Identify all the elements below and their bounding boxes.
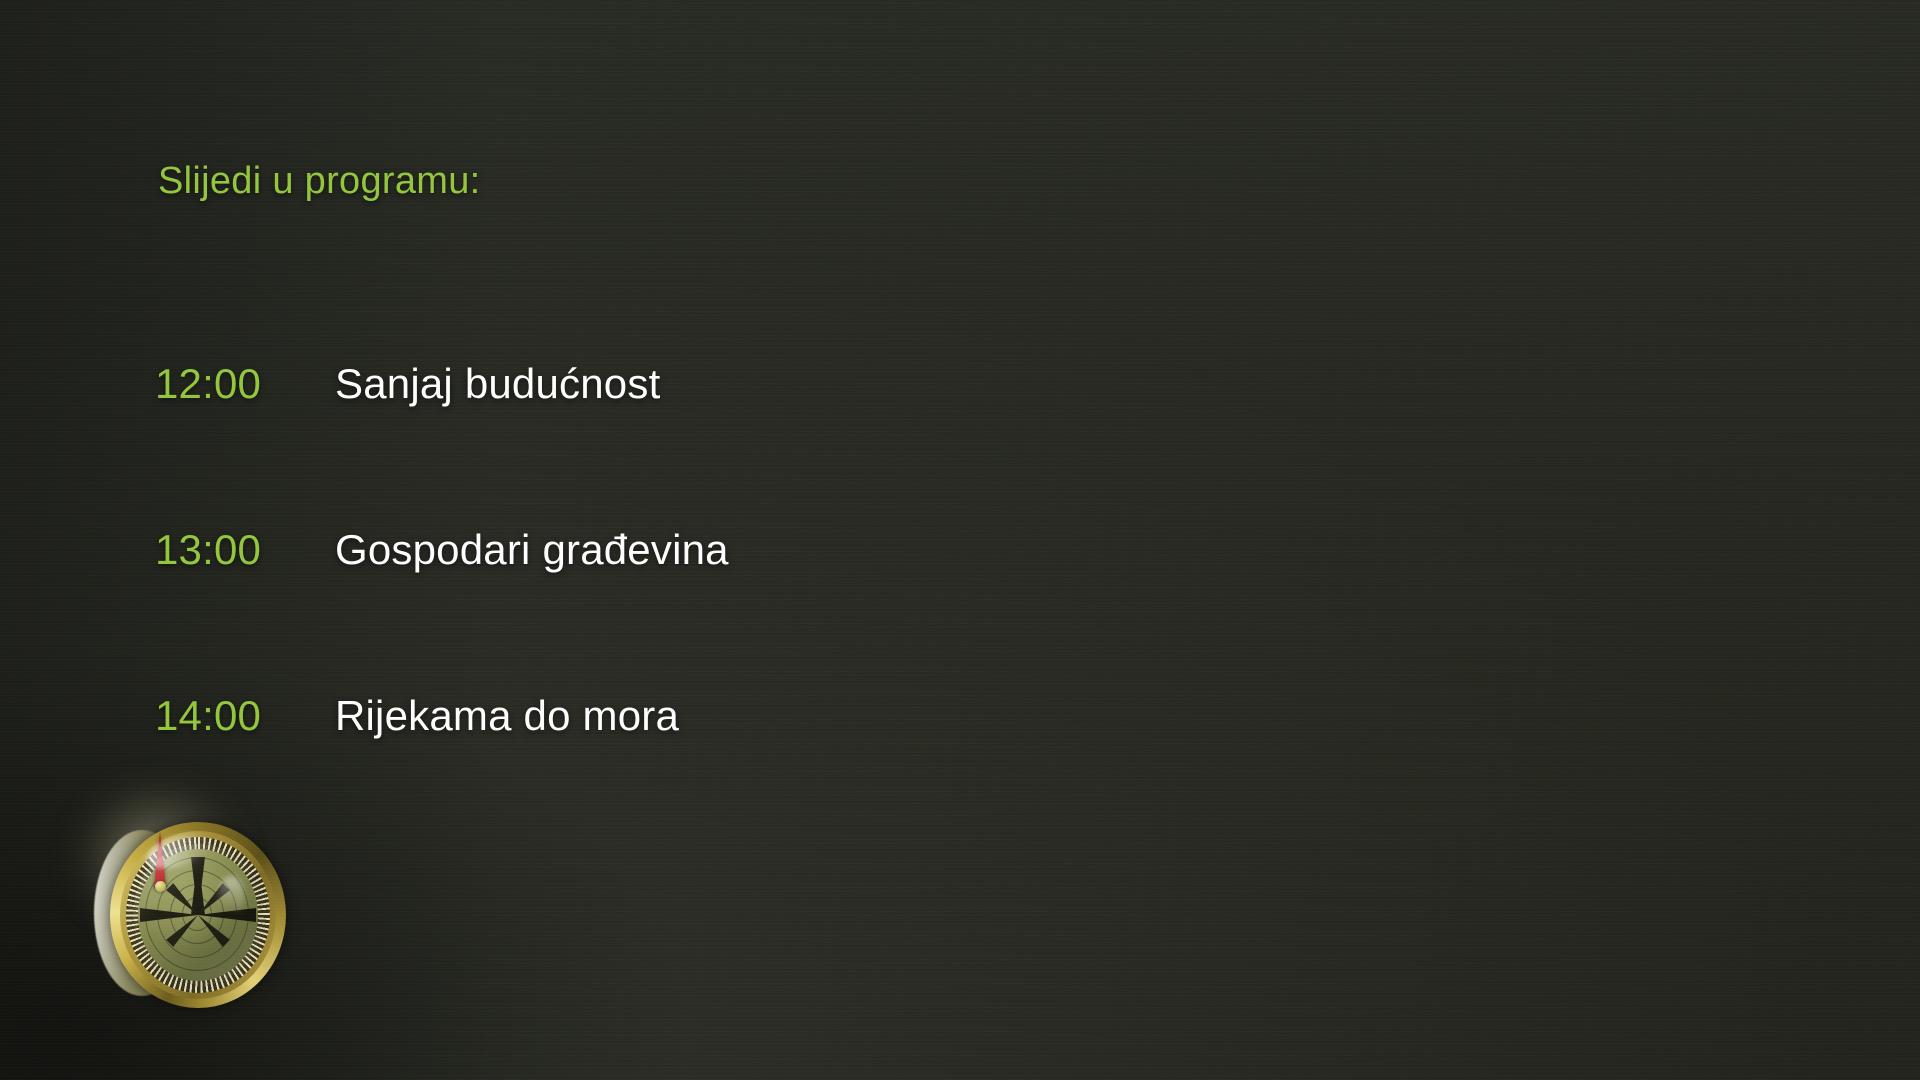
schedule-title: Rijekama do mora <box>335 692 679 740</box>
schedule-title: Sanjaj budućnost <box>335 360 660 408</box>
schedule-time: 14:00 <box>155 692 335 740</box>
schedule-time: 13:00 <box>155 526 335 574</box>
schedule-row: 13:00 Gospodari građevina <box>155 526 1055 692</box>
compass-specular-highlight-right <box>218 876 244 918</box>
schedule-time: 12:00 <box>155 360 335 408</box>
tv-broadcast-screen: Slijedi u programu: 12:00 Sanjaj budućno… <box>0 0 1920 1080</box>
channel-logo <box>78 798 318 1038</box>
coming-up-heading: Slijedi u programu: <box>158 160 481 203</box>
schedule-title: Gospodari građevina <box>335 526 729 574</box>
schedule-row: 12:00 Sanjaj budućnost <box>155 360 1055 526</box>
compass-icon <box>100 820 290 1010</box>
